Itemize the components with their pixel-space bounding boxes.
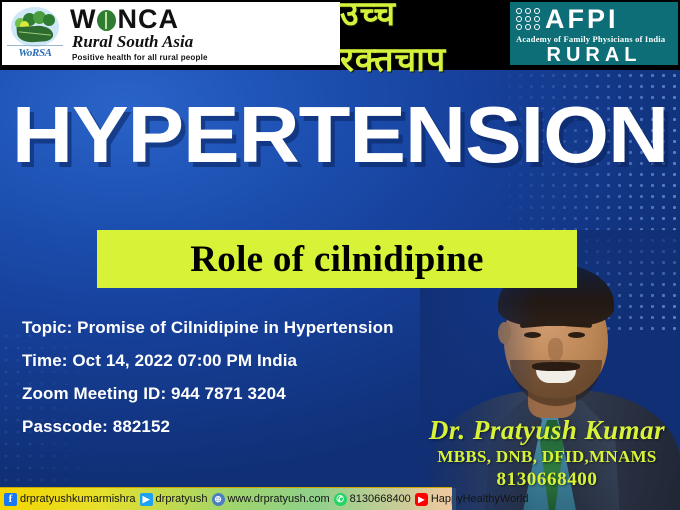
youtube-icon: ▶ bbox=[415, 493, 428, 506]
social-whatsapp[interactable]: ✆ 8130668400 bbox=[334, 493, 411, 506]
social-website-url: www.drpratyush.com bbox=[228, 493, 330, 505]
worsa-emblem-icon: WoRSA bbox=[5, 5, 65, 63]
afpi-acronym: AFPI bbox=[545, 6, 619, 32]
speaker-degrees: MBBS, DNB, DFID,MNAMS bbox=[422, 447, 672, 467]
whatsapp-icon: ✆ bbox=[334, 493, 347, 506]
social-bar: f drpratyushkumarmishra ▶ drpratyush ⊕ w… bbox=[0, 487, 452, 510]
wonca-tagline: Positive health for all rural people bbox=[72, 53, 338, 62]
page-title: HYPERTENSION bbox=[0, 95, 680, 175]
worsa-wordmark-text: WoRSA bbox=[18, 47, 51, 59]
subtitle-banner: Role of cilnidipine bbox=[97, 230, 577, 288]
afpi-full-name: Academy of Family Physicians of India bbox=[516, 34, 676, 44]
detail-passcode: Passcode: 882152 bbox=[22, 417, 394, 437]
social-whatsapp-number: 8130668400 bbox=[350, 493, 411, 505]
webinar-poster: WoRSA WNCA Rural South Asia Positive hea… bbox=[0, 0, 680, 510]
afpi-logo: AFPI Academy of Family Physicians of Ind… bbox=[510, 2, 678, 65]
social-website[interactable]: ⊕ www.drpratyush.com bbox=[212, 493, 330, 506]
subtitle-banner-text: Role of cilnidipine bbox=[190, 238, 484, 281]
social-bar-edge bbox=[452, 488, 456, 510]
social-twitter[interactable]: ▶ drpratyush bbox=[140, 493, 208, 506]
speaker-name: Dr. Pratyush Kumar bbox=[422, 415, 672, 445]
wonca-subtitle: Rural South Asia bbox=[72, 33, 338, 51]
detail-meeting-id: Zoom Meeting ID: 944 7871 3204 bbox=[22, 384, 394, 404]
wonca-brand-w: W bbox=[70, 4, 96, 34]
social-youtube-channel: HappyHealthyWorld bbox=[431, 493, 529, 505]
social-facebook-handle: drpratyushkumarmishra bbox=[20, 493, 136, 505]
afpi-dots-icon bbox=[516, 8, 541, 30]
facebook-icon: f bbox=[4, 493, 17, 506]
wonca-text-block: WNCA Rural South Asia Positive health fo… bbox=[66, 5, 338, 63]
social-twitter-handle: drpratyush bbox=[156, 493, 208, 505]
leaf-icon bbox=[97, 10, 116, 31]
wonca-logo: WoRSA WNCA Rural South Asia Positive hea… bbox=[2, 2, 340, 65]
worsa-wordmark: WoRSA bbox=[5, 47, 65, 59]
twitter-icon: ▶ bbox=[140, 493, 153, 506]
worsa-circle bbox=[11, 7, 59, 47]
speaker-phone: 8130668400 bbox=[422, 469, 672, 491]
event-details: Topic: Promise of Cilnidipine in Hyperte… bbox=[22, 318, 394, 450]
afpi-top-row: AFPI bbox=[516, 6, 619, 32]
detail-time: Time: Oct 14, 2022 07:00 PM India bbox=[22, 351, 394, 371]
social-youtube[interactable]: ▶ HappyHealthyWorld bbox=[415, 493, 529, 506]
afpi-division: RURAL bbox=[510, 44, 678, 67]
globe-icon: ⊕ bbox=[212, 493, 225, 506]
detail-topic: Topic: Promise of Cilnidipine in Hyperte… bbox=[22, 318, 394, 338]
speaker-signature: Dr. Pratyush Kumar MBBS, DNB, DFID,MNAMS… bbox=[422, 415, 672, 491]
wonca-brand-rest: NCA bbox=[117, 4, 179, 34]
social-facebook[interactable]: f drpratyushkumarmishra bbox=[4, 493, 136, 506]
poster-header: WoRSA WNCA Rural South Asia Positive hea… bbox=[0, 0, 680, 70]
hindi-title: उच्च रक्तचाप bbox=[340, 0, 505, 70]
wonca-brand: WNCA bbox=[70, 5, 338, 33]
